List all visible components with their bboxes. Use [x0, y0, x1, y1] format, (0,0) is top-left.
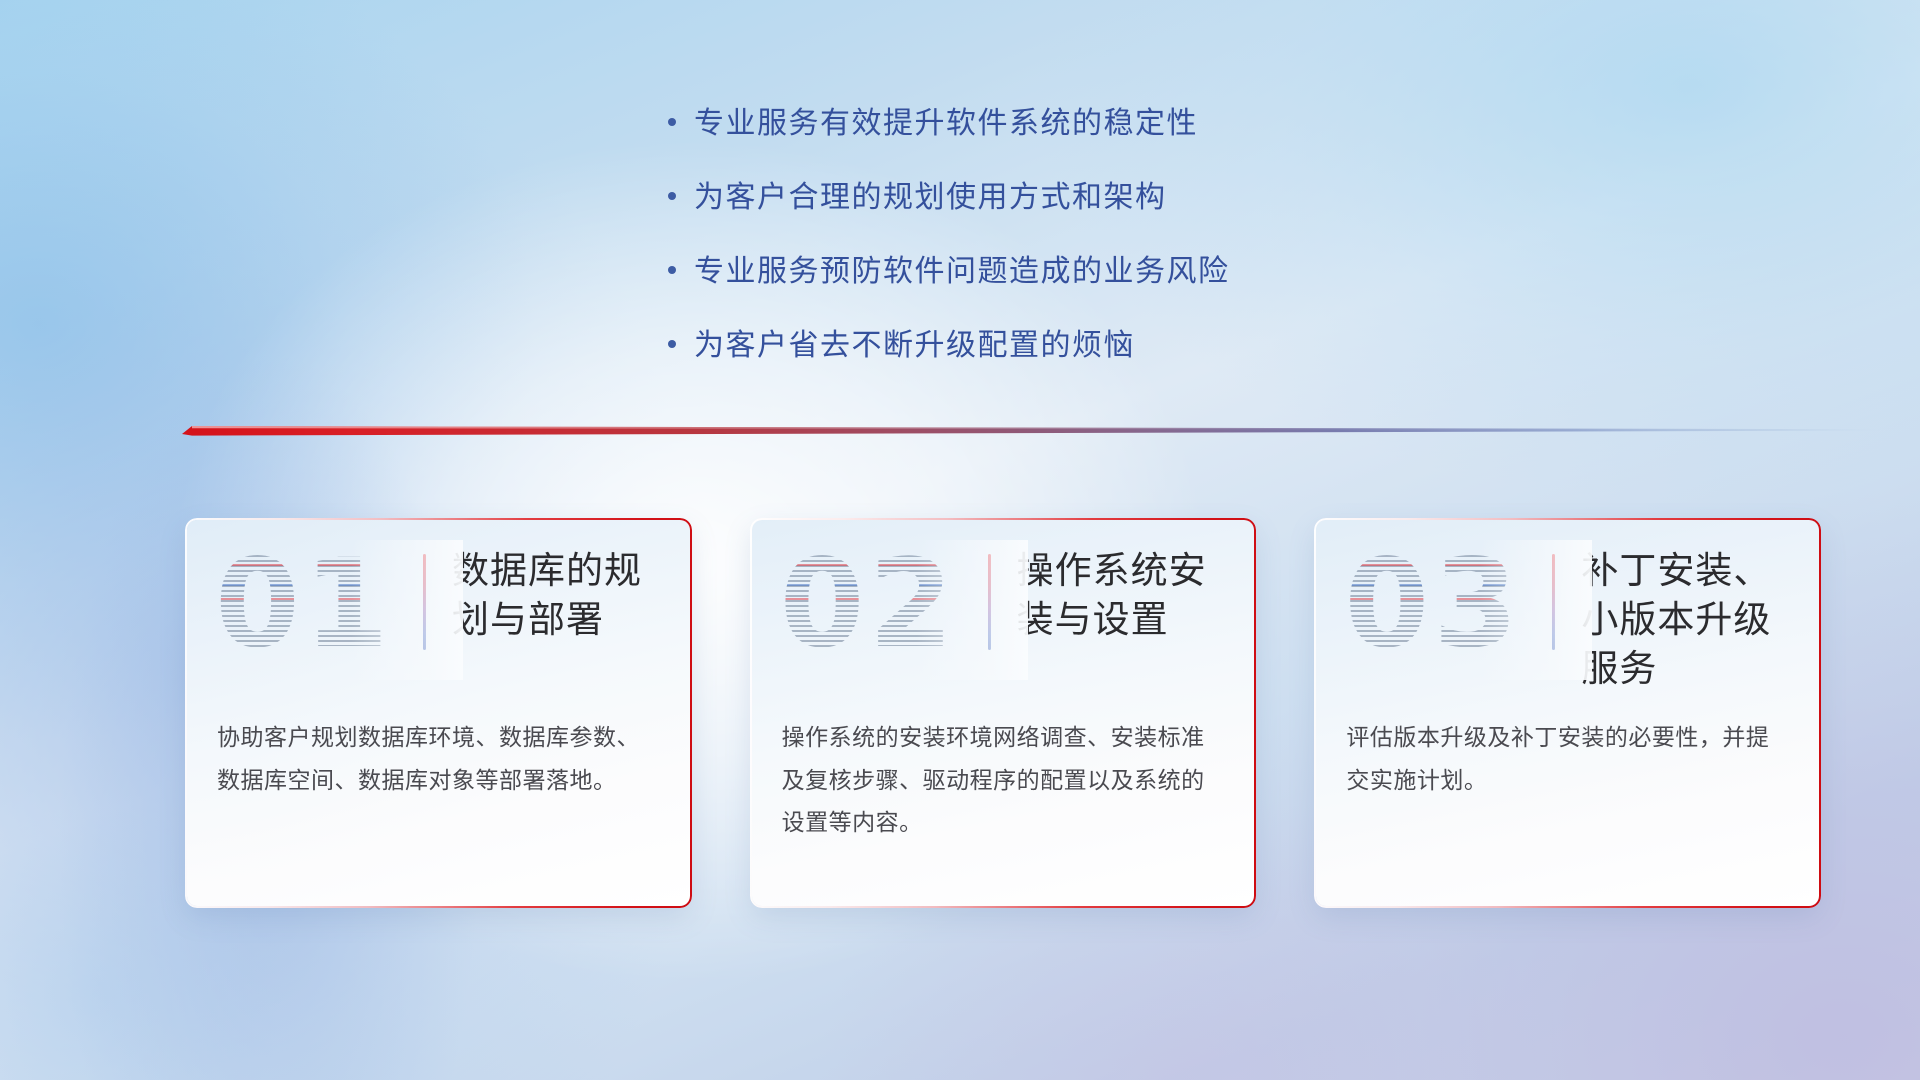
bullet-text: 专业服务预防软件问题造成的业务风险 [694, 254, 1230, 290]
card-number-striped: 02 02 02 [780, 546, 988, 674]
card-surface: 02 02 02 操作系统安装与设置 操作系统的安装环境网络调查、安装标准及复核… [752, 520, 1255, 906]
list-item: 专业服务预防软件问题造成的业务风险 [668, 254, 1528, 290]
card-divider-rule [1552, 554, 1555, 650]
service-card-03[interactable]: 03 03 03 补丁安装、小版本升级服务 评估版本升级及补丁安装的必要性，并提… [1314, 518, 1821, 908]
card-body-text: 操作系统的安装环境网络调查、安装标准及复核步骤、驱动程序的配置以及系统的设置等内… [782, 716, 1227, 844]
card-body-text: 协助客户规划数据库环境、数据库参数、数据库空间、数据库对象等部署落地。 [217, 716, 662, 801]
bullet-text: 为客户合理的规划使用方式和架构 [694, 180, 1167, 216]
bullet-dot-icon [668, 107, 694, 133]
service-card-01[interactable]: 01 01 01 数据库的规划与部署 协助客户规划数据库环境、数据库参数、数据库… [185, 518, 692, 908]
card-header: 01 01 01 数据库的规划与部署 [187, 546, 664, 678]
bullet-dot-icon [668, 329, 694, 355]
tapered-divider [182, 418, 1882, 442]
bullet-dot-icon [668, 255, 694, 281]
service-card-list: 01 01 01 数据库的规划与部署 协助客户规划数据库环境、数据库参数、数据库… [185, 518, 1821, 908]
card-title: 补丁安装、小版本升级服务 [1581, 546, 1793, 694]
card-number-striped: 03 03 03 [1344, 546, 1552, 674]
list-item: 专业服务有效提升软件系统的稳定性 [668, 106, 1528, 142]
card-surface: 03 03 03 补丁安装、小版本升级服务 评估版本升级及补丁安装的必要性，并提… [1316, 520, 1819, 906]
card-title: 数据库的规划与部署 [452, 546, 664, 644]
bullet-text: 专业服务有效提升软件系统的稳定性 [694, 106, 1198, 142]
card-header: 03 03 03 补丁安装、小版本升级服务 [1316, 546, 1793, 678]
list-item: 为客户省去不断升级配置的烦恼 [668, 328, 1528, 364]
card-number-striped: 01 01 01 [215, 546, 423, 674]
card-number-glyph-blue: 03 [1344, 540, 1522, 668]
list-item: 为客户合理的规划使用方式和架构 [668, 180, 1528, 216]
benefits-bullet-list: 专业服务有效提升软件系统的稳定性 为客户合理的规划使用方式和架构 专业服务预防软… [668, 106, 1528, 364]
service-card-02[interactable]: 02 02 02 操作系统安装与设置 操作系统的安装环境网络调查、安装标准及复核… [750, 518, 1257, 908]
card-number-glyph-blue: 02 [780, 540, 958, 668]
card-number-glyph-blue: 01 [215, 540, 393, 668]
card-body-text: 评估版本升级及补丁安装的必要性，并提交实施计划。 [1346, 716, 1791, 801]
bullet-text: 为客户省去不断升级配置的烦恼 [694, 328, 1135, 364]
card-title: 操作系统安装与设置 [1017, 546, 1229, 644]
card-surface: 01 01 01 数据库的规划与部署 协助客户规划数据库环境、数据库参数、数据库… [187, 520, 690, 906]
bullet-dot-icon [668, 181, 694, 207]
card-divider-rule [988, 554, 991, 650]
slide-canvas: 专业服务有效提升软件系统的稳定性 为客户合理的规划使用方式和架构 专业服务预防软… [0, 0, 1920, 1080]
card-header: 02 02 02 操作系统安装与设置 [752, 546, 1229, 678]
card-divider-rule [423, 554, 426, 650]
